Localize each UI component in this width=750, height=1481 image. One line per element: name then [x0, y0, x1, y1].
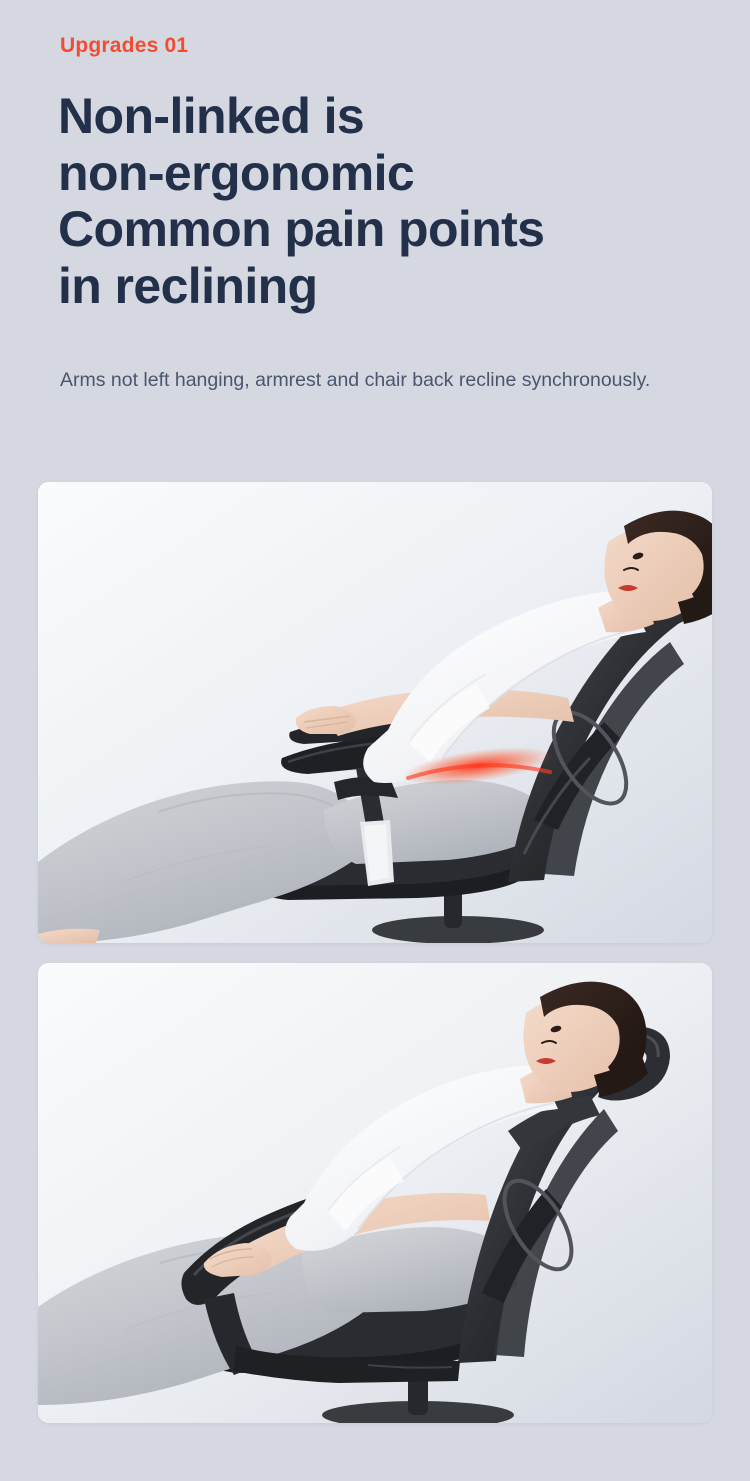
panel-background — [38, 482, 712, 943]
subcopy-text: Arms not left hanging, armrest and chair… — [60, 365, 660, 395]
headline-line-3: Common pain points — [58, 201, 678, 258]
eyebrow-label: Upgrades 01 — [60, 34, 188, 58]
headline-line-1: Non-linked is — [58, 88, 678, 145]
page-title: Non-linked is non-ergonomic Common pain … — [58, 88, 678, 314]
headline-line-4: in reclining — [58, 258, 678, 315]
comparison-panel-non-linked: Non-linked armrests leave arms unsupport… — [38, 482, 712, 943]
headline-line-2: non-ergonomic — [58, 145, 678, 202]
panel-background — [38, 963, 712, 1423]
comparison-panel-linked: Linked armrests provide support for the … — [38, 963, 712, 1423]
